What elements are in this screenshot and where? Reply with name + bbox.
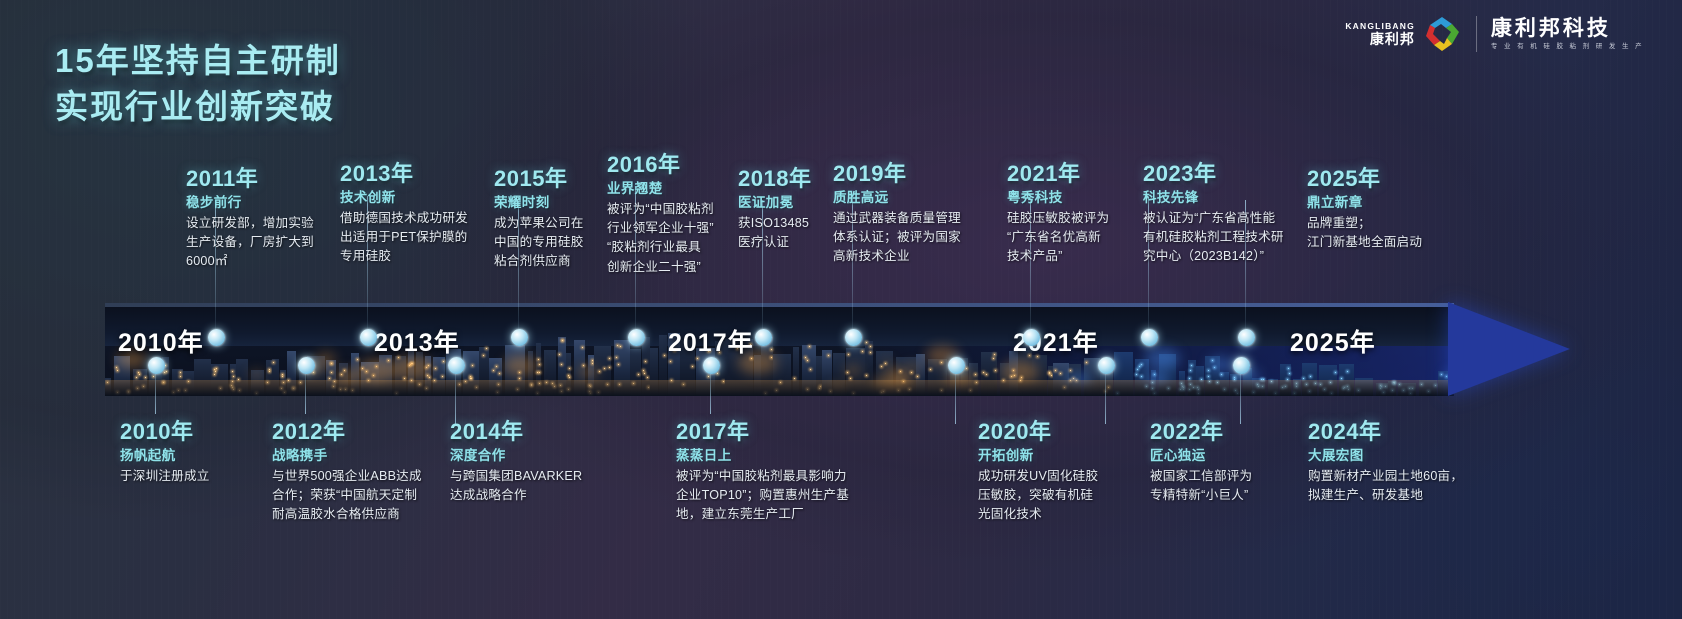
skyline-light [470,376,471,377]
timeline-node-2022[interactable] [1098,357,1115,374]
axis-year-2010: 2010年 [118,323,204,359]
skyline-light [165,365,166,366]
skyline-glow [393,356,433,380]
skyline-light [472,365,473,366]
skyline-light [810,369,811,370]
skyline-light [538,359,539,360]
skyline-light [215,371,216,372]
event-subtitle: 鼎立新章 [1307,193,1467,213]
infographic-canvas: 15年坚持自主研制 实现行业创新突破 KANGLIBANG 康利邦 康利邦科技 … [0,0,1682,619]
skyline-light [866,342,867,343]
skyline-light [136,377,137,378]
skyline-light [164,372,165,373]
timeline-node-2013[interactable] [360,329,377,346]
event-2022[interactable]: 2022年 匠心独运 被国家工信部评为 专精特新“小巨人” [1150,419,1315,505]
skyline-light [582,347,583,348]
event-2011[interactable]: 2011年 稳步前行 设立研发部，增加实验 生产设备，厂房扩大到 6000㎡ [186,166,346,272]
skyline-light [180,376,181,377]
skyline-light [117,370,118,371]
brand-logo-cn: 康利邦 [1370,32,1415,46]
skyline-light [717,373,718,374]
skyline-light [805,357,806,358]
skyline-light [664,355,665,356]
skyline-light [850,378,851,379]
brand-name-group: 康利邦科技 专 业 有 机 硅 胶 粘 剂 研 发 生 产 [1491,18,1644,51]
skyline-light [483,355,484,356]
event-desc: 与世界500强企业ABB达成 合作；荣获“中国航天定制 耐高温胶水合格供应商 [272,467,452,524]
skyline-light [828,355,829,356]
skyline-light [1060,373,1061,374]
event-desc: 与跨国集团BAVARKER 达成战略合作 [450,467,640,505]
skyline-light [233,376,234,377]
event-subtitle: 蒸蒸日上 [676,446,916,466]
skyline-light [692,366,693,367]
skyline-light [983,372,984,373]
event-subtitle: 粤秀科技 [1007,188,1157,208]
brand-divider [1476,16,1477,52]
timeline-node-2016[interactable] [628,329,645,346]
skyline-light [569,368,570,369]
skyline-light [604,368,605,369]
axis-year-2017: 2017年 [668,323,754,359]
event-year: 2014年 [450,419,640,445]
skyline-light [1139,366,1140,367]
event-desc: 品牌重塑； 江门新基地全面启动 [1307,214,1467,252]
event-subtitle: 匠心独运 [1150,446,1315,466]
skyline-light [471,378,472,379]
skyline-image [105,303,1454,396]
skyline-light [881,366,882,367]
skyline-light [537,372,538,373]
skyline-light [1221,374,1222,375]
event-year: 2024年 [1308,419,1508,445]
skyline-light [166,371,167,372]
skyline-light [966,368,967,369]
event-desc: 被国家工信部评为 专精特新“小巨人” [1150,467,1315,505]
skyline-light [1208,370,1209,371]
skyline-glow [504,356,538,376]
event-desc: 成功研发UV固化硅胶 压敏胶，突破有机硅 光固化技术 [978,467,1158,524]
event-desc: 硅胶压敏胶被评为 “广东省名优高新 技术产品” [1007,209,1157,266]
skyline-light [180,372,181,373]
brand-tagline: 专 业 有 机 硅 胶 粘 剂 研 发 生 产 [1491,44,1644,51]
skyline-light [331,372,332,373]
skyline-light [917,376,918,377]
skyline-light [329,378,330,379]
skyline-light [862,351,863,352]
arrow-highlight-edge [105,303,1454,307]
arrow-head [1448,302,1570,396]
event-year: 2010年 [120,419,280,445]
event-desc: 获ISO13485 医疗认证 [738,214,848,252]
skyline-light [1141,376,1142,377]
skyline-light [1055,370,1056,371]
event-year: 2021年 [1007,161,1157,187]
skyline-light [620,346,621,347]
skyline-light [986,374,987,375]
event-subtitle: 大展宏图 [1308,446,1508,466]
event-2023[interactable]: 2023年 科技先锋 被认证为“广东省高性能 有机硅胶粘剂工程技术研 究中心（2… [1143,161,1318,267]
brand-mark-group: KANGLIBANG 康利邦 [1345,14,1462,54]
skyline-light [145,377,146,378]
skyline-light [1070,370,1071,371]
skyline-light [1049,373,1050,374]
skyline-light [794,378,795,379]
event-subtitle: 扬帆起航 [120,446,280,466]
diamond-logo-icon [1422,14,1462,54]
event-subtitle: 开拓创新 [978,446,1158,466]
skyline-light [592,360,593,361]
skyline-glow [1208,357,1233,372]
skyline-light [1289,373,1290,374]
event-2020[interactable]: 2020年 开拓创新 成功研发UV固化硅胶 压敏胶，突破有机硅 光固化技术 [978,419,1158,525]
skyline-light [1136,374,1137,375]
brand-logo-en: KANGLIBANG [1345,22,1415,31]
timeline-node-2023[interactable] [1141,329,1158,346]
event-subtitle: 质胜高远 [833,188,998,208]
event-desc: 被评为“中国胶粘剂最具影响力 企业TOP10”；购置惠州生产基 地，建立东莞生产… [676,467,916,524]
event-year: 2012年 [272,419,452,445]
skyline-light [569,377,570,378]
timeline-node-2019[interactable] [845,329,862,346]
event-year: 2017年 [676,419,916,445]
event-2013[interactable]: 2013年 技术创新 借助德国技术成功研发 出适用于PET保护膜的 专用硅胶 [340,161,500,267]
skyline-light [1335,372,1336,373]
skyline-light [493,370,494,371]
event-2017[interactable]: 2017年 蒸蒸日上 被评为“中国胶粘剂最具影响力 企业TOP10”；购置惠州生… [676,419,916,525]
event-2025[interactable]: 2025年 鼎立新章 品牌重塑； 江门新基地全面启动 [1307,166,1467,252]
event-year: 2022年 [1150,419,1315,445]
event-2024[interactable]: 2024年 大展宏图 购置新材产业园土地60亩， 拟建生产、研发基地 [1308,419,1508,505]
timeline-node-2024[interactable] [1233,357,1250,374]
event-desc: 通过武器装备质量管理 体系认证；被评为国家 高新技术企业 [833,209,998,266]
skyline-light [539,372,540,373]
skyline-light [848,354,849,355]
skyline-glow [845,366,861,375]
skyline-light [214,374,215,375]
brand-wordmark: KANGLIBANG 康利邦 [1345,22,1415,47]
skyline-light [153,376,154,377]
timeline-node-2012[interactable] [298,357,315,374]
skyline-light [486,348,487,349]
event-year: 2019年 [833,161,998,187]
timeline-node-2018[interactable] [755,329,772,346]
skyline-light [499,373,500,374]
skyline-glow [250,371,263,378]
skyline-light [568,375,569,376]
brand-logo: KANGLIBANG 康利邦 康利邦科技 专 业 有 机 硅 胶 粘 剂 研 发… [1345,14,1644,54]
skyline-light [269,371,270,372]
timeline-node-2015[interactable] [511,329,528,346]
event-2014[interactable]: 2014年 深度合作 与跨国集团BAVARKER 达成战略合作 [450,419,640,505]
skyline-light [993,358,994,359]
skyline-light [435,368,436,369]
axis-year-2013: 2013年 [374,323,460,359]
skyline-light [443,361,444,362]
skyline-light [1347,371,1348,372]
skyline-light [911,372,912,373]
skyline-light [232,371,233,372]
skyline-light [1208,376,1209,377]
timeline-node-2017[interactable] [703,357,720,374]
skyline-light [559,354,560,355]
skyline-light [273,362,274,363]
event-2021[interactable]: 2021年 粤秀科技 硅胶压敏胶被评为 “广东省名优高新 技术产品” [1007,161,1157,267]
skyline-light [866,375,867,376]
skyline-light [519,378,520,379]
skyline-light [470,378,471,379]
event-2018[interactable]: 2018年 医证加冕 获ISO13485 医疗认证 [738,166,848,252]
skyline-light [930,369,931,370]
event-subtitle: 稳步前行 [186,193,346,213]
skyline-light [618,364,619,365]
skyline-light [442,376,443,377]
skyline-light [1189,378,1190,379]
skyline-light [975,374,976,375]
timeline-node-2021[interactable] [1023,329,1040,346]
event-desc: 被认证为“广东省高性能 有机硅胶粘剂工程技术研 究中心（2023B142）” [1143,209,1318,266]
event-2019[interactable]: 2019年 质胜高远 通过武器装备质量管理 体系认证；被评为国家 高新技术企业 [833,161,998,267]
skyline-light [429,377,430,378]
event-2010[interactable]: 2010年 扬帆起航 于深圳注册成立 [120,419,280,486]
event-subtitle: 深度合作 [450,446,640,466]
skyline-light [496,366,497,367]
timeline-node-2011[interactable] [208,329,225,346]
skyline-light [1049,372,1050,373]
skyline-light [638,374,639,375]
skyline-light [617,345,618,346]
skyline-light [609,367,610,368]
skyline-light [1051,375,1052,376]
skyline-light [139,374,140,375]
skyline-light [282,374,283,375]
skyline-light [670,361,671,362]
skyline-light [809,346,810,347]
event-year: 2020年 [978,419,1158,445]
skyline-light [643,370,644,371]
event-2012[interactable]: 2012年 战略携手 与世界500强企业ABB达成 合作；荣获“中国航天定制 耐… [272,419,452,525]
skyline-glow [906,364,920,372]
skyline-light [282,376,283,377]
event-year: 2013年 [340,161,500,187]
event-year: 2018年 [738,166,848,192]
skyline-light [216,368,217,369]
event-subtitle: 技术创新 [340,188,500,208]
skyline-light [1141,364,1142,365]
skyline-light [1234,377,1235,378]
skyline-light [1191,365,1192,366]
headline-line-1: 15年坚持自主研制 [55,38,341,84]
skyline-light [357,359,358,360]
skyline-light [995,370,996,371]
skyline-light [562,340,563,341]
skyline-light [1086,362,1087,363]
skyline-glow [882,360,892,366]
skyline-light [647,377,648,378]
event-desc: 购置新材产业园土地60亩， 拟建生产、研发基地 [1308,467,1508,505]
timeline-node-2010[interactable] [148,357,165,374]
skyline-light [116,367,117,368]
skyline-light [609,358,610,359]
skyline-light [994,354,995,355]
page-title: 15年坚持自主研制 实现行业创新突破 [55,38,341,129]
skyline-light [1137,369,1138,370]
event-desc: 于深圳注册成立 [120,467,280,486]
skyline-light [771,349,772,350]
skyline-light [1288,368,1289,369]
skyline-light [870,346,871,347]
skyline-light [1310,376,1311,377]
skyline-light [561,364,562,365]
skyline-light [1303,378,1304,379]
skyline-light [645,361,646,362]
headline-line-2: 实现行业创新突破 [55,84,341,130]
skyline-glow [578,366,598,378]
skyline-light [592,363,593,364]
timeline-node-2014[interactable] [448,357,465,374]
skyline-glow [1144,348,1180,369]
event-year: 2011年 [186,166,346,192]
skyline-light [599,371,600,372]
brand-name-cn: 康利邦科技 [1491,18,1644,39]
timeline-node-2025[interactable] [1238,329,1255,346]
event-year: 2025年 [1307,166,1467,192]
event-desc: 借助德国技术成功研发 出适用于PET保护膜的 专用硅胶 [340,209,500,266]
skyline-light [644,373,645,374]
skyline-light [870,352,871,353]
skyline-light [1341,378,1342,379]
skyline-light [708,376,709,377]
skyline-light [539,364,540,365]
event-subtitle: 战略携手 [272,446,452,466]
skyline-light [138,372,139,373]
skyline-light [616,357,617,358]
skyline-light [807,360,808,361]
skyline-light [214,369,215,370]
axis-year-2025: 2025年 [1290,323,1376,359]
skyline-light [1190,370,1191,371]
skyline-light [1441,374,1442,375]
event-subtitle: 科技先锋 [1143,188,1318,208]
event-desc: 设立研发部，增加实验 生产设备，厂房扩大到 6000㎡ [186,214,346,271]
skyline-light [269,369,270,370]
event-year: 2023年 [1143,161,1318,187]
timeline-node-2020[interactable] [948,357,965,374]
event-subtitle: 医证加冕 [738,193,848,213]
skyline-waterline [105,380,1454,396]
